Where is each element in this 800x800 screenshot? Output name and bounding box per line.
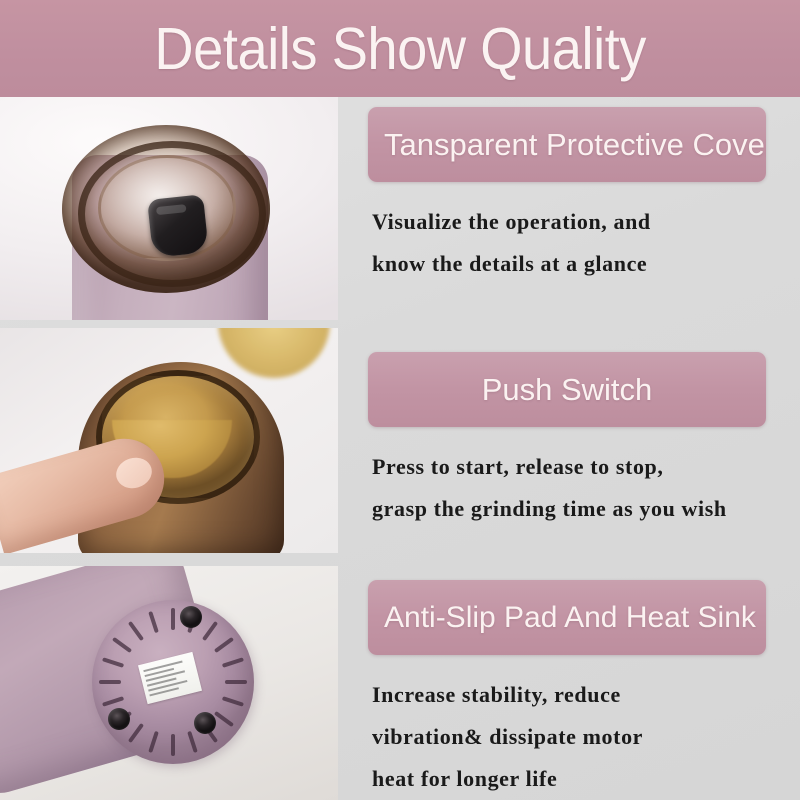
feature-description: Press to start, release to stop, grasp t… <box>368 446 766 530</box>
transparent-cover-photo <box>0 97 338 320</box>
feature-title-pill: Push Switch <box>368 352 766 427</box>
header-banner: Details Show Quality <box>0 0 800 97</box>
photo-2-scene <box>0 328 338 553</box>
feature-title-pill: Tansparent Protective Cover <box>368 107 766 182</box>
feature-block-transparent-cover: Tansparent Protective Cover Visualize th… <box>368 107 766 285</box>
anti-slip-foot <box>180 606 202 628</box>
feature-description: Increase stability, reduce vibration& di… <box>368 674 766 800</box>
feature-title-label: Push Switch <box>482 373 653 407</box>
photo-1-scene <box>0 97 338 320</box>
product-detail-infographic: Details Show Quality <box>0 0 800 800</box>
push-switch-photo <box>0 328 338 553</box>
feature-description-line: heat for longer life <box>372 758 766 800</box>
feature-block-push-switch: Push Switch Press to start, release to s… <box>368 352 766 530</box>
anti-slip-foot <box>108 708 130 730</box>
feature-description: Visualize the operation, and know the de… <box>368 201 766 285</box>
push-switch-shape <box>147 194 209 258</box>
feature-description-line: Visualize the operation, and <box>372 201 766 243</box>
feature-description-line: know the details at a glance <box>372 243 766 285</box>
base-heat-sink-photo <box>0 566 338 800</box>
feature-title-pill: Anti-Slip Pad And Heat Sink <box>368 580 766 655</box>
feature-description-line: vibration& dissipate motor <box>372 716 766 758</box>
photo-3-scene <box>0 566 338 800</box>
feature-description-line: Press to start, release to stop, <box>372 446 766 488</box>
page-title: Details Show Quality <box>154 19 646 79</box>
anti-slip-foot <box>194 712 216 734</box>
feature-title-label: Tansparent Protective Cover <box>384 128 766 162</box>
feature-title-label: Anti-Slip Pad And Heat Sink <box>384 601 756 635</box>
feature-block-anti-slip-heat-sink: Anti-Slip Pad And Heat Sink Increase sta… <box>368 580 766 800</box>
feature-description-line: grasp the grinding time as you wish <box>372 488 766 530</box>
feature-description-line: Increase stability, reduce <box>372 674 766 716</box>
